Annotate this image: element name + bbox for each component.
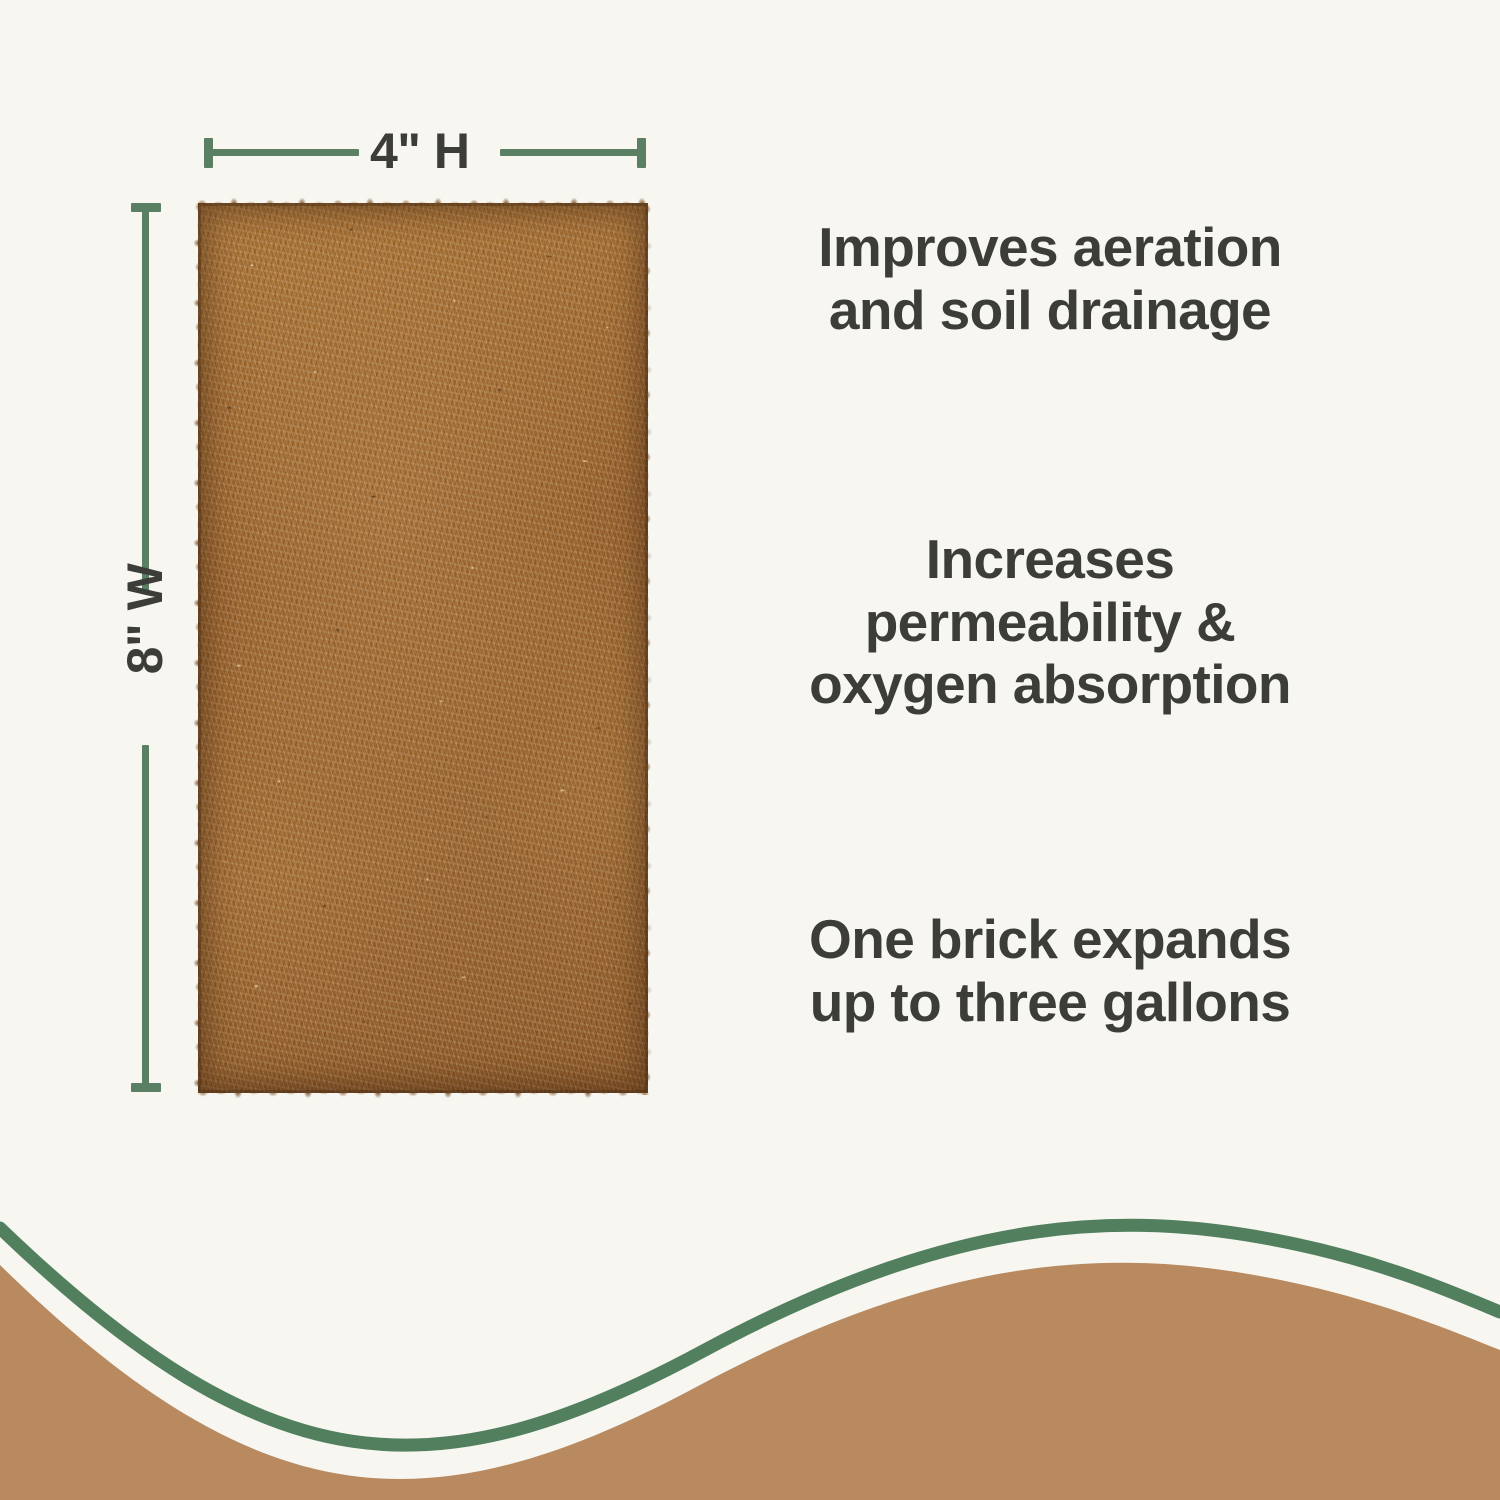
dimension-width-label: 8" W xyxy=(116,464,174,774)
benefit-line: up to three gallons xyxy=(700,971,1400,1034)
dimension-horizontal-left-line xyxy=(204,149,359,156)
benefit-line: Improves aeration xyxy=(700,216,1400,279)
benefit-statement-expansion: One brick expands up to three gallons xyxy=(700,908,1400,1033)
brick-compressed-rim xyxy=(198,203,648,1093)
benefit-line: Increases xyxy=(700,528,1400,591)
dimension-horizontal-right-line xyxy=(500,149,645,156)
coco-coir-brick-image xyxy=(198,203,648,1093)
soil-wave-fill xyxy=(0,1263,1500,1500)
infographic-canvas: 4" H 8" W Improves aeration and soil dra… xyxy=(0,0,1500,1500)
benefit-line: oxygen absorption xyxy=(700,653,1400,716)
dimension-horizontal-right-cap xyxy=(637,138,646,168)
benefit-statement-aeration: Improves aeration and soil drainage xyxy=(700,216,1400,341)
dimension-vertical-bottom-cap xyxy=(131,1083,161,1092)
benefit-statement-permeability: Increases permeability & oxygen absorpti… xyxy=(700,528,1400,716)
dimension-height-label: 4" H xyxy=(370,122,470,180)
dimension-vertical-bottom-line xyxy=(142,745,149,1090)
benefit-line: permeability & xyxy=(700,591,1400,654)
decorative-soil-wave xyxy=(0,1170,1500,1500)
benefit-line: One brick expands xyxy=(700,908,1400,971)
benefit-line: and soil drainage xyxy=(700,279,1400,342)
